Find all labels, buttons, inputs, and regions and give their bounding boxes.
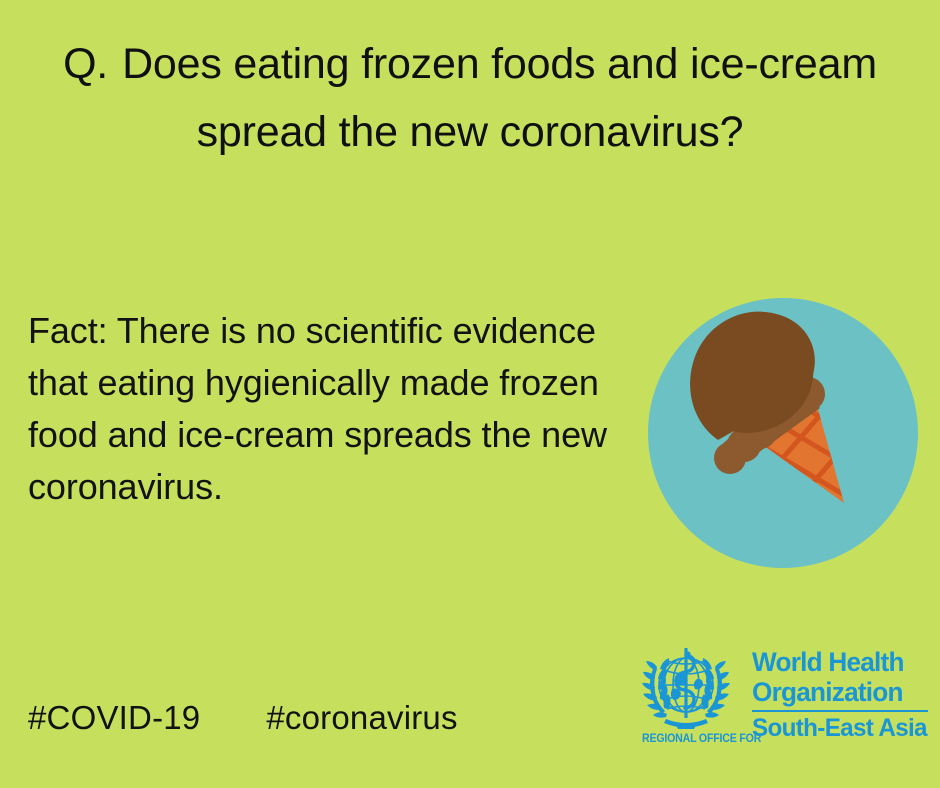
hashtag-row: #COVID-19#coronavirus [28, 698, 458, 738]
page-title: Q.Does eating frozen foods and ice-cream… [0, 30, 940, 166]
mythbuster-card: Q.Does eating frozen foods and ice-cream… [0, 0, 940, 788]
who-regional-prefix: REGIONAL OFFICE FOR [642, 733, 743, 745]
who-region-name: South-East Asia [752, 714, 925, 743]
fact-paragraph: Fact: There is no scientific evidence th… [28, 305, 618, 513]
who-wordmark: World Health Organization South-East Asi… [752, 647, 930, 743]
ice-cream-illustration [648, 298, 918, 568]
hashtag-coronavirus: #coronavirus [266, 699, 457, 736]
question-prefix: Q. [63, 40, 108, 88]
who-name-line-1: World Health [752, 647, 925, 677]
hashtag-covid19: #COVID-19 [28, 699, 200, 736]
who-logo: REGIONAL OFFICE FOR World Health Organiz… [640, 645, 930, 757]
who-name-line-2: Organization [752, 677, 925, 707]
question-text: Does eating frozen foods and ice-cream s… [122, 40, 877, 156]
who-divider-rule [752, 710, 928, 712]
who-emblem-icon [640, 645, 732, 731]
